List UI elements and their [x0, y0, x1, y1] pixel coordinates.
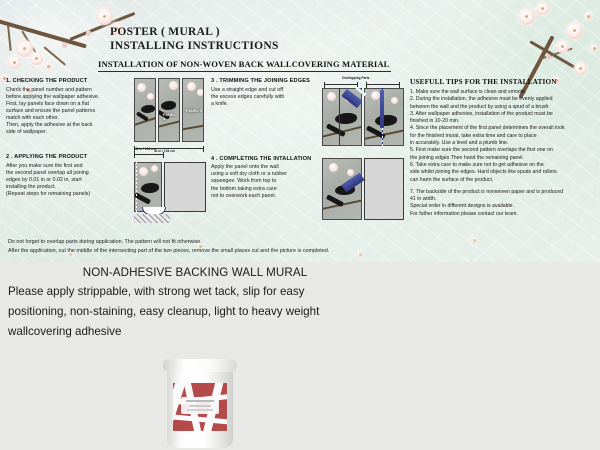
diagram-step-4-wall [364, 158, 404, 220]
step-1-heading: 1. CHECKING THE PRODUCT [6, 78, 134, 84]
step-2-line-3: edges by 0.01 in or 0.02 in, start [6, 177, 134, 184]
tip-line-1: 1. Make sure the wall surface is clean a… [410, 89, 598, 96]
step-4-heading: 4 . COMPLETING THE INTALLATION [211, 156, 331, 162]
step-4-line-5: not to overwork each panel. [211, 193, 331, 200]
sheet-title-line1: POSTER ( MURAL ) [98, 26, 506, 40]
step-2-line-2: the second panel overlap all joining [6, 170, 134, 177]
diagram-step-3: Overlapping Parts [322, 76, 406, 148]
diagram-panel-3: PANEL 3 [182, 78, 204, 142]
step-1-body: Check the panel number and pattern befor… [6, 87, 134, 137]
overlap-label: Overlapping Parts [342, 76, 369, 80]
step-1-line-2: before applying the wallpaper adhesive. [6, 94, 134, 101]
step-4-line-3: squeegee. Work from top to [211, 178, 331, 185]
straight-edge-icon [380, 90, 384, 128]
diagram-step-2: 41 in / 104 cm [134, 160, 206, 226]
diagram-step-2-panel [134, 162, 162, 212]
tip-line-6: 4. Since the placement of the first pane… [410, 125, 598, 132]
diagram-step-4 [322, 158, 406, 226]
ad-copy: NON-ADHESIVE BACKING WALL MURAL Please a… [8, 266, 368, 342]
note-line-1: Do not forget to overlap parts during ap… [8, 238, 568, 247]
product-description-section: NON-ADHESIVE BACKING WALL MURAL Please a… [0, 262, 600, 450]
diagram-ruler-label-step-1: 41 in / 104 cm [154, 149, 175, 153]
diagram-ruler-label-step-2: 41 in / 104 cm [135, 147, 156, 151]
sheet-title-line2: INSTALLING INSTRUCTIONS [98, 40, 506, 54]
overlap-ruler-right [366, 84, 400, 85]
step-4-line-4: the bottom taking extra care [211, 186, 331, 193]
step-1-line-4: surface and ensure the panel patterns [6, 108, 134, 115]
step-2-line-1: After you make sure the first and [6, 163, 134, 170]
tips-body: 1. Make sure the wall surface is clean a… [410, 89, 598, 218]
instruction-panel: 1. CHECKING THE PRODUCT Check the panel … [6, 78, 594, 230]
instruction-column-left: 1. CHECKING THE PRODUCT Check the panel … [6, 78, 134, 198]
tip-line-11: 6. Take extra care to make sure not to g… [410, 162, 598, 169]
diagram-panel-2: PANEL 2 [158, 78, 180, 142]
step-1-line-7: side of wallpaper. [6, 129, 134, 136]
step-2-body: After you make sure the first and the se… [6, 163, 134, 198]
diagram-step-3-trim-line-left [339, 88, 340, 146]
sheet-subtitle: INSTALLATION OF NON-WOVEN BACK WALLCOVER… [98, 57, 391, 72]
step-4-body: Apply the panel onto the wall using a so… [211, 164, 331, 199]
step-2-line-5: (Repeat steps for remaining panels) [6, 191, 134, 198]
diagram-step-3-panel-right [364, 88, 404, 146]
step-2-heading: 2 . APPLYING THE PRODUCT [6, 154, 134, 160]
adhesive-bucket-image [163, 359, 237, 449]
bottom-notes: Do not forget to overlap parts during ap… [8, 238, 568, 256]
tip-line-4: 3. After wallpaper adhesive, installatio… [410, 111, 598, 118]
step-2-line-4: installing the product. [6, 184, 134, 191]
step-4-line-1: Apply the panel onto the wall [211, 164, 331, 171]
ad-line-2: positioning, non-staining, easy cleanup,… [8, 302, 368, 322]
tip-line-5: finished in 10-20 min. [410, 118, 598, 125]
step-1: 1. CHECKING THE PRODUCT Check the panel … [6, 78, 134, 136]
step-1-line-1: Check the panel number and pattern [6, 87, 134, 94]
diagram-panel-1 [134, 78, 156, 142]
step-3-line-1: Use a straight edge and cut off [211, 87, 331, 94]
step-3-body: Use a straight edge and cut off the exce… [211, 87, 331, 108]
tip-line-10: the joining edges Then hand the remainin… [410, 155, 598, 162]
diagram-panel-3-label: PANEL 3 [186, 109, 202, 113]
diagram-ruler-step-2 [134, 154, 164, 155]
step-3-line-3: a knife. [211, 101, 331, 108]
tip-line-17: For futher information please contact ou… [410, 211, 598, 218]
step-1-line-5: match with each other. [6, 115, 134, 122]
ad-line-1: Please apply strippable, with strong wet… [8, 282, 368, 302]
step-3-heading: 3 . TRIMMING THE JOINING EDGES [211, 78, 331, 84]
instruction-column-middle: 3 . TRIMMING THE JOINING EDGES Use a str… [211, 78, 331, 200]
step-1-line-3: First, lay panels face down on a flat [6, 101, 134, 108]
ad-heading: NON-ADHESIVE BACKING WALL MURAL [8, 266, 368, 279]
overlap-ruler-left [324, 84, 358, 85]
tip-line-9: 5. First make sure the second pattern ov… [410, 147, 598, 154]
product-listing-image: POSTER ( MURAL ) INSTALLING INSTRUCTIONS… [0, 0, 600, 450]
diagram-step-4-panel [322, 158, 362, 220]
tip-line-13: can harm the surface of the product. [410, 177, 598, 184]
tip-line-8: in accurately. Use a level and a plumb l… [410, 140, 598, 147]
instruction-column-right: USEFULL TIPS FOR THE INSTALLATION 1. Mak… [410, 78, 598, 218]
wallpaper-background: POSTER ( MURAL ) INSTALLING INSTRUCTIONS… [0, 0, 600, 262]
tip-line-12: side whilst joining the edges. Hard obje… [410, 169, 598, 176]
step-4-line-2: using a soft dry cloth or a rubber [211, 171, 331, 178]
tip-line-3: between the wall and the product by usin… [410, 104, 598, 111]
step-3-line-2: the excess edges carefully with [211, 94, 331, 101]
step-4: 4 . COMPLETING THE INTALLATION Apply the… [211, 156, 331, 200]
bucket-lid [163, 359, 237, 372]
tip-line-14: 7. The backside of the product is nonwov… [410, 189, 598, 196]
diagram-step-2-floor-hatch [134, 214, 170, 223]
bucket-label-text-block [181, 397, 219, 414]
tip-line-7: for the finished mural, take extra time … [410, 133, 598, 140]
step-2: 2 . APPLYING THE PRODUCT After you make … [6, 154, 134, 198]
ad-line-3: wallcovering adhesive [8, 322, 368, 342]
ad-description: Please apply strippable, with strong wet… [8, 282, 368, 342]
diagram-step-2-dotted-guide [136, 162, 137, 212]
step-3: 3 . TRIMMING THE JOINING EDGES Use a str… [211, 78, 331, 108]
diagram-step-1: PANEL 2 PANEL 3 41 in / 104 cm [134, 78, 206, 148]
tip-line-2: 2. During the installation, the adhesive… [410, 96, 598, 103]
diagram-step-2-wall [164, 162, 206, 212]
instruction-sheet-header: POSTER ( MURAL ) INSTALLING INSTRUCTIONS… [98, 26, 506, 72]
diagram-panel-2-label: PANEL 2 [163, 113, 179, 121]
note-line-2: After the application, cut the middle of… [8, 247, 568, 256]
step-1-line-6: Then, apply the adhesive at the back [6, 122, 134, 129]
tips-heading: USEFULL TIPS FOR THE INSTALLATION [410, 78, 598, 86]
tip-line-16: Special order in different designs is av… [410, 203, 598, 210]
tip-line-15: 41 in width. [410, 196, 598, 203]
